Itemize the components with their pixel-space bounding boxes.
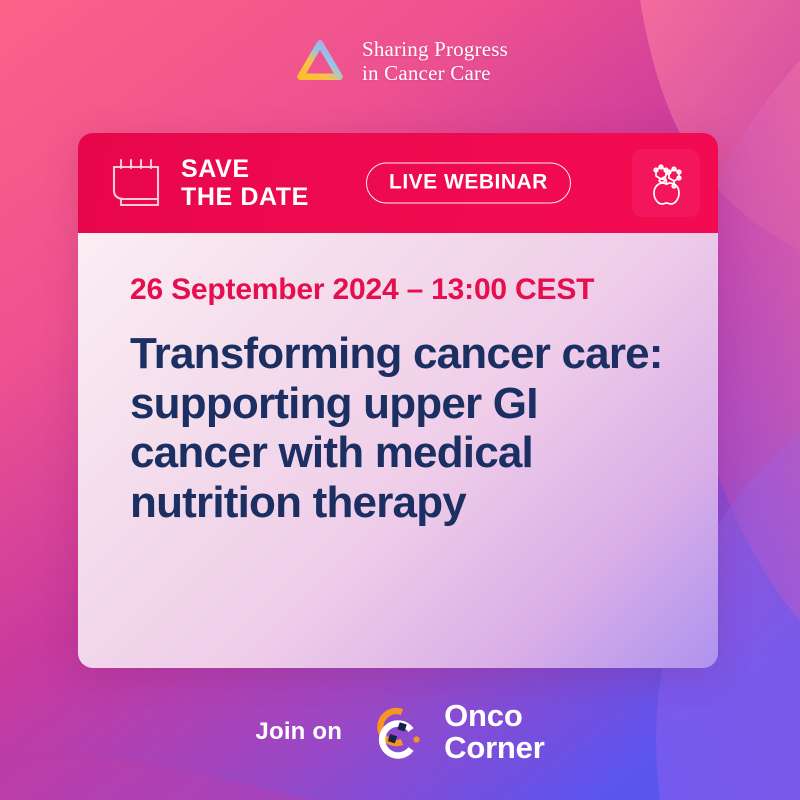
onco-corner-logo-icon: [364, 699, 430, 765]
live-webinar-badge: LIVE WEBINAR: [366, 163, 571, 204]
spcc-triangle-logo-icon: [292, 35, 348, 87]
card-header: SAVE THE DATE LIVE WEBINAR: [78, 133, 718, 233]
onco-corner-wordmark: Onco Corner: [444, 700, 544, 763]
save-the-date-line2: THE DATE: [181, 183, 309, 212]
event-date: 26 September 2024 – 13:00 CEST: [130, 273, 718, 307]
onco-corner-line2: Corner: [444, 732, 544, 764]
nutrition-badge-tile: [632, 149, 700, 217]
onco-corner-line1: Onco: [444, 700, 544, 732]
apple-molecule-icon: [642, 159, 690, 207]
spcc-brand-lockup: Sharing Progress in Cancer Care: [0, 30, 800, 92]
spcc-brand-name: Sharing Progress in Cancer Care: [362, 37, 508, 86]
spcc-brand-line2: in Cancer Care: [362, 61, 508, 85]
save-the-date-label: SAVE THE DATE: [181, 155, 309, 212]
onco-corner-lockup[interactable]: Onco Corner: [364, 699, 544, 765]
save-the-date-line1: SAVE: [181, 155, 309, 184]
save-the-date-card: SAVE THE DATE LIVE WEBINAR: [78, 133, 718, 668]
spcc-brand-line1: Sharing Progress: [362, 37, 508, 61]
event-title: Transforming cancer care: supporting upp…: [130, 329, 675, 528]
footer-cta: Join on Onco Corner: [0, 692, 800, 772]
card-body: 26 September 2024 – 13:00 CEST Transform…: [78, 233, 718, 668]
calendar-icon: [106, 153, 168, 213]
join-on-label: Join on: [255, 718, 342, 746]
